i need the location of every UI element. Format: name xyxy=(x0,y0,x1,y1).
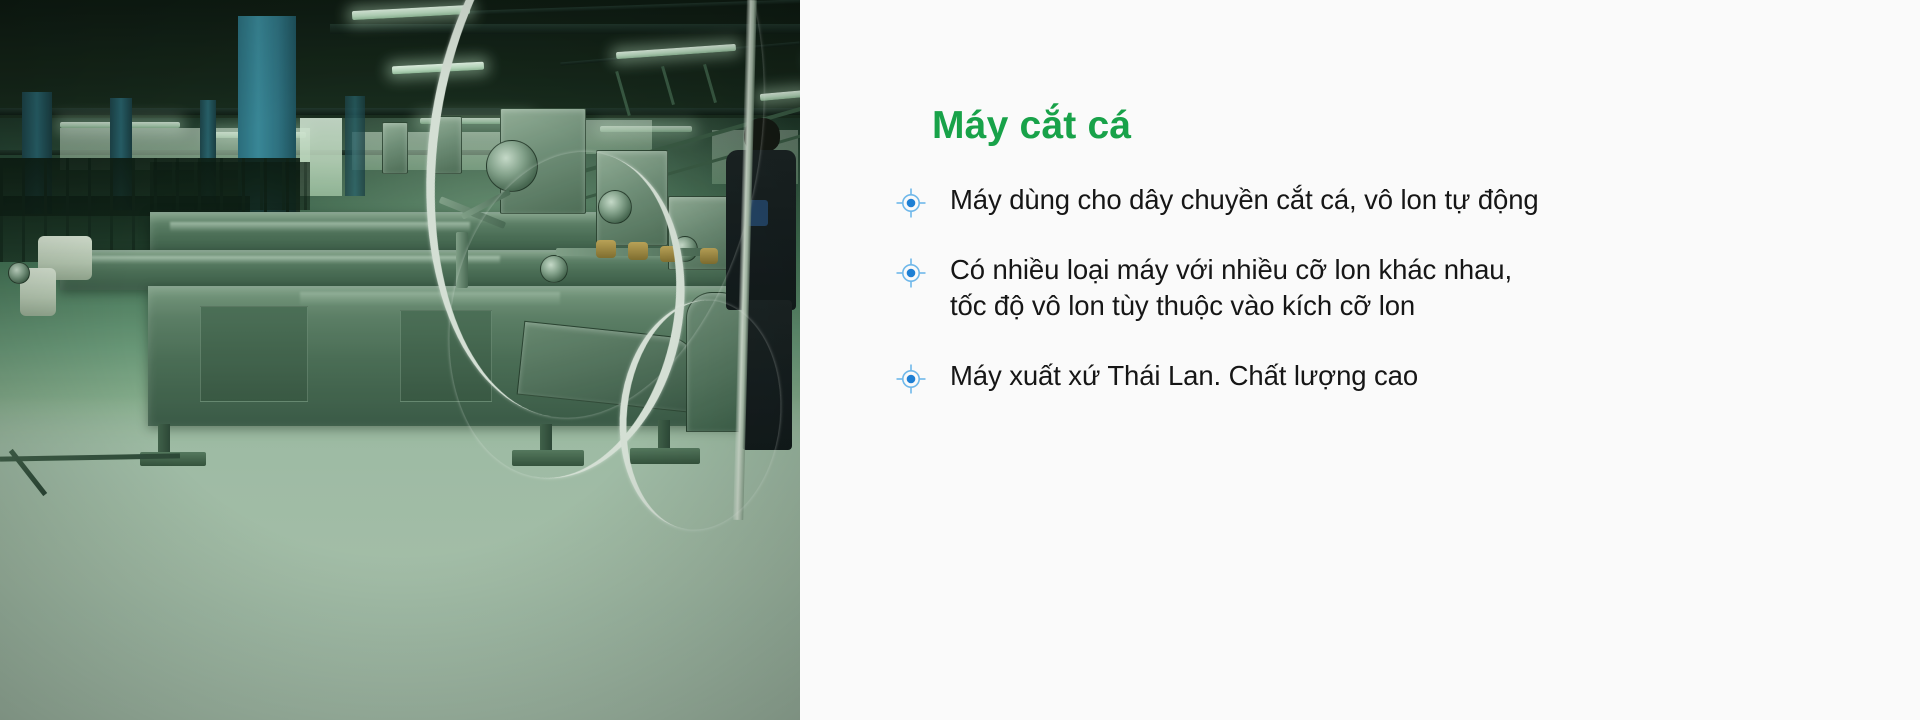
page-title: Máy cắt cá xyxy=(932,104,1131,148)
target-bullet-icon xyxy=(896,364,926,394)
tank-highlight xyxy=(170,222,470,232)
support-column xyxy=(345,96,365,196)
slide: Máy cắt cá Máy dùng cho dây chuyền cắt c… xyxy=(0,0,1920,720)
bullet-text: Máy xuất xứ Thái Lan. Chất lượng cao xyxy=(950,358,1418,394)
cutter-head-housing xyxy=(382,122,408,174)
target-bullet-icon xyxy=(896,258,926,288)
bullet-text-multiline: Có nhiều loại máy với nhiều cỡ lon khác … xyxy=(950,252,1512,324)
list-item: Máy dùng cho dây chuyền cắt cá, vô lon t… xyxy=(896,182,1836,218)
bullet-list: Máy dùng cho dây chuyền cắt cá, vô lon t… xyxy=(896,182,1836,428)
bullet-text: Máy dùng cho dây chuyền cắt cá, vô lon t… xyxy=(950,182,1539,218)
list-item: Máy xuất xứ Thái Lan. Chất lượng cao xyxy=(896,358,1836,394)
list-item: Có nhiều loại máy với nhiều cỡ lon khác … xyxy=(896,252,1836,324)
access-plate xyxy=(200,306,308,402)
target-bullet-icon xyxy=(896,188,926,218)
content-panel: Máy cắt cá Máy dùng cho dây chuyền cắt c… xyxy=(800,0,1920,720)
bullet-line: Có nhiều loại máy với nhiều cỡ lon khác … xyxy=(950,254,1512,285)
bullet-line: tốc độ vô lon tùy thuộc vào kích cỡ lon xyxy=(950,290,1415,321)
valve-handwheel xyxy=(8,262,30,284)
factory-photo xyxy=(0,0,800,720)
